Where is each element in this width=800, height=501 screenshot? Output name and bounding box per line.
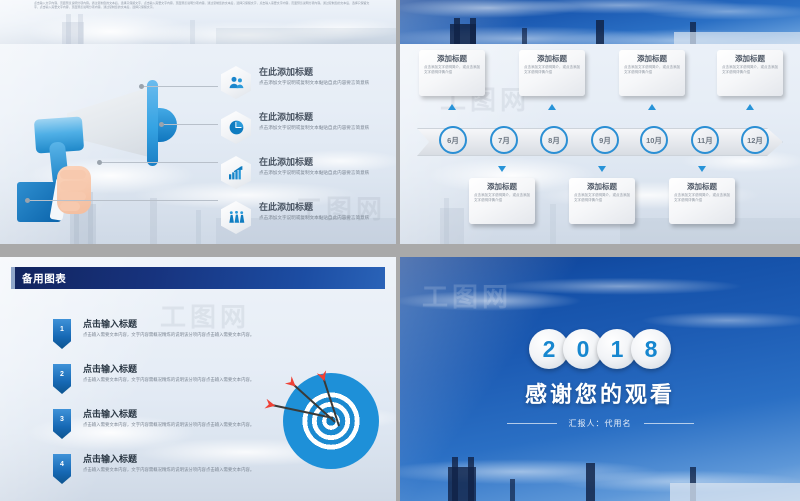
skyline-silhouette: [400, 18, 800, 44]
arrow-fletching: [285, 376, 299, 390]
top-strip-paragraph: 点击输入文字内容，页面预览说明分项内容。通过复制您的文本后，选择只保留文字，点击…: [34, 1, 374, 10]
list-item[interactable]: 在此添加标题 点击添加文字说明或复制文本黏贴自此内容要言简意赅: [221, 111, 385, 147]
slide-3-body: 1 点击输入标题 点击输入需要文本内容，文字内容需概况精炼的说明该分项内容点击输…: [11, 289, 385, 493]
divider-line: [507, 423, 557, 424]
number-badge: 3: [53, 409, 71, 439]
pointer-down-icon: [698, 166, 706, 172]
slide-4[interactable]: 工图网 2 0 1 8 感谢您的观看 汇报人：代用名: [400, 257, 800, 501]
card-body: 点击添加文字说明简介，或点击添加文字说明详情介绍: [574, 193, 630, 203]
list-item[interactable]: 在此添加标题 点击添加文字说明或复制文本黏贴自此内容要言简意赅: [221, 156, 385, 192]
slide-1-body: 在此添加标题 点击添加文字说明或复制文本黏贴自此内容要言简意赅 在此添加标题: [11, 32, 385, 236]
thank-you-headline: 感谢您的观看: [525, 377, 675, 409]
list-item-body: 点击添加文字说明或复制文本黏贴自此内容要言简意赅: [259, 125, 394, 131]
timeline-card[interactable]: 添加标题 点击添加文字说明简介，或点击添加文字说明详情介绍: [419, 50, 485, 96]
timeline-month[interactable]: 11月: [691, 126, 719, 154]
finger: [60, 170, 86, 179]
finger: [60, 181, 86, 190]
list-item[interactable]: 4 点击输入标题 点击输入需要文本内容，文字内容需概况精炼的说明该分项内容点击输…: [53, 454, 283, 490]
card-heading: 添加标题: [574, 182, 630, 191]
timeline-month[interactable]: 12月: [741, 126, 769, 154]
presenter-line: 汇报人：代用名: [507, 418, 694, 429]
timeline-card[interactable]: 添加标题 点击添加文字说明简介，或点击添加文字说明详情介绍: [717, 50, 783, 96]
presenter-name: 汇报人：代用名: [557, 418, 644, 429]
skyline-silhouette: [0, 14, 396, 44]
top-partial-slide-right[interactable]: [400, 0, 800, 44]
list-item-body: 点击输入需要文本内容，文字内容需概况精炼的说明该分项内容点击输入需要文本内容。: [83, 332, 258, 338]
number-badge: 4: [53, 454, 71, 484]
year-digit: 8: [631, 329, 671, 369]
timeline-card[interactable]: 添加标题 点击添加文字说明简介，或点击添加文字说明详情介绍: [619, 50, 685, 96]
slide-3[interactable]: 工图网 备用图表 1 点击输入标题 点击输入需要文本内容，文字内容需概况精炼的说…: [0, 257, 396, 501]
target-illustration: [283, 373, 379, 469]
pointer-down-icon: [598, 166, 606, 172]
list-item[interactable]: 3 点击输入标题 点击输入需要文本内容，文字内容需概况精炼的说明该分项内容点击输…: [53, 409, 283, 445]
card-heading: 添加标题: [722, 54, 778, 63]
card-heading: 添加标题: [674, 182, 730, 191]
timeline-card[interactable]: 添加标题 点击添加文字说明简介，或点击添加文字说明详情介绍: [519, 50, 585, 96]
number-badge: 2: [53, 364, 71, 394]
pointer-up-icon: [548, 104, 556, 110]
number-badge: 1: [53, 319, 71, 349]
timeline-card[interactable]: 添加标题 点击添加文字说明简介，或点击添加文字说明详情介绍: [669, 178, 735, 224]
timeline-card[interactable]: 添加标题 点击添加文字说明简介，或点击添加文字说明详情介绍: [569, 178, 635, 224]
list-item-heading: 点击输入标题: [83, 454, 258, 465]
card-heading: 添加标题: [524, 54, 580, 63]
megaphone-lip: [147, 80, 158, 166]
list-item[interactable]: 在此添加标题 点击添加文字说明或复制文本黏贴自此内容要言简意赅: [221, 201, 385, 237]
timeline-month[interactable]: 7月: [490, 126, 518, 154]
list-item-text: 点击输入标题 点击输入需要文本内容，文字内容需概况精炼的说明该分项内容点击输入需…: [83, 454, 258, 473]
timeline-month[interactable]: 6月: [439, 126, 467, 154]
card-heading: 添加标题: [424, 54, 480, 63]
connector-line: [164, 124, 218, 125]
list-item-text: 在此添加标题 点击添加文字说明或复制文本黏贴自此内容要言简意赅: [259, 201, 394, 221]
card-heading: 添加标题: [474, 182, 530, 191]
list-item-heading: 点击输入标题: [83, 319, 258, 330]
list-item[interactable]: 在此添加标题 点击添加文字说明或复制文本黏贴自此内容要言简意赅: [221, 66, 385, 102]
pie-chart-icon: [221, 111, 251, 144]
card-body: 点击添加文字说明简介，或点击添加文字说明详情介绍: [624, 65, 680, 75]
connector-line: [144, 86, 218, 87]
thank-you-block: 2 0 1 8 感谢您的观看 汇报人：代用名: [400, 257, 800, 501]
list-item-body: 点击输入需要文本内容，文字内容需概况精炼的说明该分项内容点击输入需要文本内容。: [83, 467, 258, 473]
slide-deck: 工图网 单击此处添加标题: [0, 0, 800, 501]
list-item-body: 点击添加文字说明或复制文本黏贴自此内容要言简意赅: [259, 80, 394, 86]
binoculars-icon: [221, 201, 251, 234]
timeline-month[interactable]: 9月: [591, 126, 619, 154]
card-body: 点击添加文字说明简介，或点击添加文字说明详情介绍: [722, 65, 778, 75]
timeline-card[interactable]: 添加标题 点击添加文字说明简介，或点击添加文字说明详情介绍: [469, 178, 535, 224]
timeline-month[interactable]: 8月: [540, 126, 568, 154]
card-body: 点击添加文字说明简介，或点击添加文字说明详情介绍: [474, 193, 530, 203]
card-body: 点击添加文字说明简介，或点击添加文字说明详情介绍: [674, 193, 730, 203]
slide-3-title-bar: 备用图表: [11, 267, 385, 289]
list-item-heading: 在此添加标题: [259, 112, 394, 123]
pointer-up-icon: [448, 104, 456, 110]
year-badge: 2 0 1 8: [532, 329, 668, 369]
list-item-text: 点击输入标题 点击输入需要文本内容，文字内容需概况精炼的说明该分项内容点击输入需…: [83, 319, 258, 338]
slide-2-body: 添加标题 点击添加文字说明简介，或点击添加文字说明详情介绍 添加标题 点击添加文…: [411, 32, 789, 236]
connector-line: [102, 162, 218, 163]
list-item-heading: 在此添加标题: [259, 67, 394, 78]
list-item-body: 点击输入需要文本内容，文字内容需概况精炼的说明该分项内容点击输入需要文本内容。: [83, 422, 258, 428]
megaphone-illustration: [27, 80, 187, 230]
divider-line: [644, 423, 694, 424]
list-item-body: 点击添加文字说明或复制文本黏贴自此内容要言简意赅: [259, 215, 394, 221]
card-heading: 添加标题: [624, 54, 680, 63]
people-icon: [221, 66, 251, 99]
pointer-up-icon: [746, 104, 754, 110]
list-item-body: 点击添加文字说明或复制文本黏贴自此内容要言简意赅: [259, 170, 394, 176]
top-partial-slide-left[interactable]: 点击输入文字内容，页面预览说明分项内容。通过复制您的文本后，选择只保留文字，点击…: [0, 0, 396, 44]
slide-3-title: 备用图表: [15, 271, 66, 286]
finger: [60, 202, 80, 211]
hand-illustration: [27, 160, 93, 222]
list-item-heading: 点击输入标题: [83, 409, 258, 420]
list-item[interactable]: 1 点击输入标题 点击输入需要文本内容，文字内容需概况精炼的说明该分项内容点击输…: [53, 319, 283, 355]
pointer-down-icon: [498, 166, 506, 172]
list-item-heading: 在此添加标题: [259, 157, 394, 168]
connector-line: [30, 200, 218, 201]
bar-chart-icon: [221, 156, 251, 189]
numbered-list: 1 点击输入标题 点击输入需要文本内容，文字内容需概况精炼的说明该分项内容点击输…: [53, 319, 283, 499]
list-item-text: 在此添加标题 点击添加文字说明或复制文本黏贴自此内容要言简意赅: [259, 156, 394, 176]
card-body: 点击添加文字说明简介，或点击添加文字说明详情介绍: [524, 65, 580, 75]
list-item[interactable]: 2 点击输入标题 点击输入需要文本内容，文字内容需概况精炼的说明该分项内容点击输…: [53, 364, 283, 400]
list-item-text: 点击输入标题 点击输入需要文本内容，文字内容需概况精炼的说明该分项内容点击输入需…: [83, 364, 258, 383]
list-item-text: 点击输入标题 点击输入需要文本内容，文字内容需概况精炼的说明该分项内容点击输入需…: [83, 409, 258, 428]
list-item-heading: 点击输入标题: [83, 364, 258, 375]
list-item-text: 在此添加标题 点击添加文字说明或复制文本黏贴自此内容要言简意赅: [259, 66, 394, 86]
list-item-text: 在此添加标题 点击添加文字说明或复制文本黏贴自此内容要言简意赅: [259, 111, 394, 131]
list-item-heading: 在此添加标题: [259, 202, 394, 213]
pointer-up-icon: [648, 104, 656, 110]
timeline-month[interactable]: 10月: [640, 126, 668, 154]
feature-list: 在此添加标题 点击添加文字说明或复制文本黏贴自此内容要言简意赅 在此添加标题: [221, 66, 385, 244]
list-item-body: 点击输入需要文本内容，文字内容需概况精炼的说明该分项内容点击输入需要文本内容。: [83, 377, 258, 383]
card-body: 点击添加文字说明简介，或点击添加文字说明详情介绍: [424, 65, 480, 75]
